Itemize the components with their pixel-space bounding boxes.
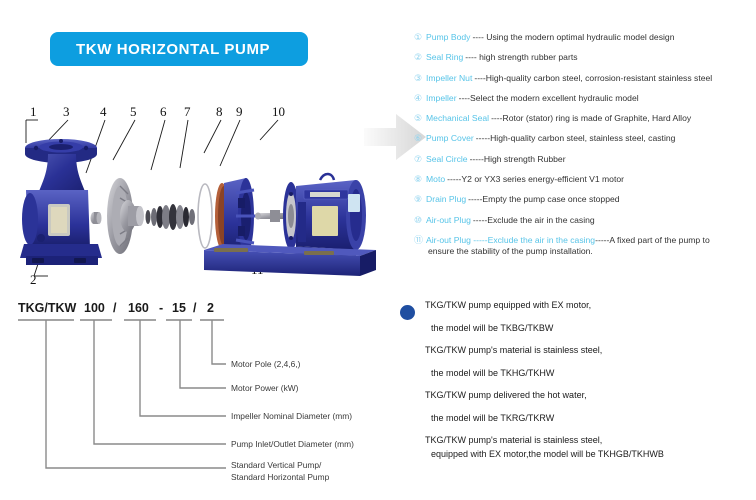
model-code-row: TKG/TKW 100 / 160 - 15 / 2: [18, 301, 214, 315]
part-name: Seal Circle: [426, 154, 468, 165]
impeller-part: [107, 178, 144, 254]
legend-motor-pole: Motor Pole (2,4,6,): [231, 359, 301, 369]
part-number: ⑥: [414, 133, 426, 144]
part-description: -----Empty the pump case once stopped: [468, 194, 619, 205]
motor-shaft-part: [255, 182, 299, 250]
part-list-item: ⑦ Seal Circle -----High strength Rubber: [414, 154, 754, 165]
part-list-item: ⑥ Pump Cover -----High-quality carbon st…: [414, 133, 754, 144]
leader-lines: [46, 320, 226, 468]
part-name: Air-out Plug: [426, 215, 471, 226]
model-designation-diagram: TKG/TKW 100 / 160 - 15 / 2: [12, 296, 390, 492]
variant-notes: TKG/TKW pump equipped with EX motor, the…: [400, 300, 750, 471]
part-name: Pump Cover: [426, 133, 474, 144]
parts-list: ① Pump Body ---- Using the modern optima…: [414, 32, 754, 266]
callout-10: 10: [272, 104, 285, 119]
callout-8: 8: [216, 104, 223, 119]
legend-impeller-diameter: Impeller Nominal Diameter (mm): [231, 411, 352, 421]
page-title: TKW HORIZONTAL PUMP: [76, 41, 270, 58]
motor-part: [296, 174, 366, 256]
part-list-item: ④ Impeller ----Select the modern excelle…: [414, 93, 754, 104]
part-name: Moto: [426, 174, 445, 185]
part-number: ⑪: [414, 235, 426, 246]
code-token-prefix: TKG/TKW: [18, 301, 77, 315]
part-description: ----Rotor (stator) ring is made of Graph…: [491, 113, 691, 124]
part-number: ⑧: [414, 174, 426, 185]
part-list-item: ① Pump Body ---- Using the modern optima…: [414, 32, 754, 43]
part-list-item: ⑤ Mechanical Seal ----Rotor (stator) rin…: [414, 113, 754, 124]
part-number: ⑤: [414, 113, 426, 124]
part-description-line2: ensure the stability of the pump install…: [428, 246, 710, 257]
part-list-item: ③ Impeller Nut ----High-quality carbon s…: [414, 73, 754, 84]
bullet-icon: [400, 305, 415, 320]
part-description: -----Exclude the air in the casing: [473, 215, 595, 226]
code-token-power: 15: [172, 301, 186, 315]
pump-cover-part: [215, 178, 256, 254]
part-description: -----High-quality carbon steel, stainles…: [476, 133, 676, 144]
callout-9: 9: [236, 104, 243, 119]
part-number: ③: [414, 73, 426, 84]
part-number: ④: [414, 93, 426, 104]
part-description: -----High strength Rubber: [470, 154, 566, 165]
variant-note-line: TKG/TKW pump's material is stainless ste…: [400, 345, 750, 356]
part-number: ②: [414, 52, 426, 63]
variant-note-line: TKG/TKW pump equipped with EX motor,: [400, 300, 750, 311]
legend-standard-pump: Standard Vertical Pump/: [231, 460, 322, 470]
part-name: Drain Plug: [426, 194, 466, 205]
mechanical-seal-part: [146, 204, 196, 230]
part-number: ⑩: [414, 215, 426, 226]
part-name: Impeller Nut: [426, 73, 472, 84]
callout-1: 1: [30, 104, 37, 119]
part-description: ----High-quality carbon steel, corrosion…: [474, 73, 712, 84]
part-description: -----Y2 or YX3 series energy-efficient V…: [447, 174, 624, 185]
part-list-item: ⑧ Moto -----Y2 or YX3 series energy-effi…: [414, 174, 754, 185]
part-list-item: ⑩ Air-out Plug -----Exclude the air in t…: [414, 215, 754, 226]
variant-note-line: the model will be TKRG/TKRW: [400, 413, 750, 424]
part-list-item: ⑨ Drain Plug -----Empty the pump case on…: [414, 194, 754, 205]
legend-standard-pump-line2: Standard Horizontal Pump: [231, 472, 330, 482]
code-token-impeller: 160: [128, 301, 149, 315]
part-name: Air-out Plug -----Exclude the air in the…: [426, 235, 595, 245]
part-name: Pump Body: [426, 32, 470, 43]
callout-4: 4: [100, 104, 107, 119]
part-description: ----Select the modern excellent hydrauli…: [459, 93, 639, 104]
code-token-inlet: 100: [84, 301, 105, 315]
part-number: ⑦: [414, 154, 426, 165]
code-token-slash2: /: [193, 301, 197, 315]
code-token-dash: -: [159, 301, 163, 315]
part-name: Mechanical Seal: [426, 113, 489, 124]
variant-note-line: TKG/TKW pump delivered the hot water,: [400, 390, 750, 401]
variant-note-line: the model will be TKBG/TKBW: [400, 323, 750, 334]
seal-circle-part: [198, 184, 212, 248]
part-description: ---- Using the modern optimal hydraulic …: [472, 32, 674, 43]
impeller-nut-part: [91, 212, 102, 224]
legend-inlet-diameter: Pump Inlet/Outlet Diameter (mm): [231, 439, 354, 449]
part-number: ⑨: [414, 194, 426, 205]
code-token-pole: 2: [207, 301, 214, 315]
part-number: ①: [414, 32, 426, 43]
part-description: ---- high strength rubber parts: [465, 52, 577, 63]
part-list-item-last: ⑪ Air-out Plug -----Exclude the air in t…: [414, 235, 754, 257]
variant-note-line: the model will be TKHG/TKHW: [400, 368, 750, 379]
variant-note-line: equipped with EX motor,the model will be…: [400, 449, 750, 460]
variant-note-line: TKG/TKW pump's material is stainless ste…: [400, 435, 750, 446]
callout-5: 5: [130, 104, 137, 119]
callout-6: 6: [160, 104, 167, 119]
code-token-slash1: /: [113, 301, 117, 315]
exploded-pump-figure: 1 3 4 5 6 7 8 9 10 2 11: [8, 98, 378, 288]
model-legend: Motor Pole (2,4,6,) Motor Power (kW) Imp…: [231, 359, 354, 482]
title-banner: TKW HORIZONTAL PUMP: [50, 32, 308, 66]
part-list-item: ② Seal Ring ---- high strength rubber pa…: [414, 52, 754, 63]
part-description: -----A fixed part of the pump to: [595, 235, 710, 245]
part-name: Impeller: [426, 93, 457, 104]
callout-3: 3: [63, 104, 70, 119]
callout-2: 2: [30, 272, 37, 287]
legend-motor-power: Motor Power (kW): [231, 383, 299, 393]
callout-7: 7: [184, 104, 191, 119]
part-name: Seal Ring: [426, 52, 463, 63]
pump-body-part: [20, 139, 102, 265]
